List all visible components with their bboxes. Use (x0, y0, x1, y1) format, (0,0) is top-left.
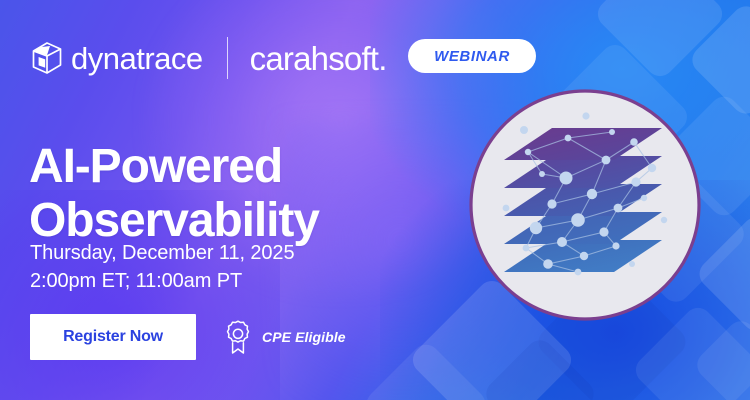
dynatrace-wordmark: dynatrace (71, 43, 203, 74)
dynatrace-cube-icon (30, 41, 64, 75)
headline-line-1: AI-Powered (29, 140, 282, 193)
schedule-date: Thursday, December 11, 2025 (30, 240, 294, 268)
register-now-button[interactable]: Register Now (30, 314, 196, 360)
schedule-time: 2:00pm ET; 11:00am PT (30, 268, 294, 296)
webinar-badge: WEBINAR (408, 39, 536, 73)
carahsoft-period: . (378, 40, 386, 77)
logo-row: dynatrace carahsoft. (30, 35, 387, 81)
schedule-block: Thursday, December 11, 2025 2:00pm ET; 1… (30, 240, 294, 295)
stacked-layers-illustration (466, 86, 704, 324)
carahsoft-wordmark: carahsoft. (250, 42, 387, 75)
cta-row: Register Now CPE Eligible (30, 314, 346, 360)
award-ribbon-icon (223, 319, 253, 355)
page-title: AI-Powered Observability (29, 140, 319, 248)
webinar-banner: dynatrace carahsoft. WEBINAR AI-Powered … (0, 0, 750, 400)
logo-divider (227, 37, 228, 79)
webinar-badge-label: WEBINAR (434, 48, 510, 65)
cpe-eligible-group: CPE Eligible (223, 319, 346, 355)
cpe-eligible-label: CPE Eligible (262, 329, 346, 345)
register-now-label: Register Now (63, 328, 163, 346)
